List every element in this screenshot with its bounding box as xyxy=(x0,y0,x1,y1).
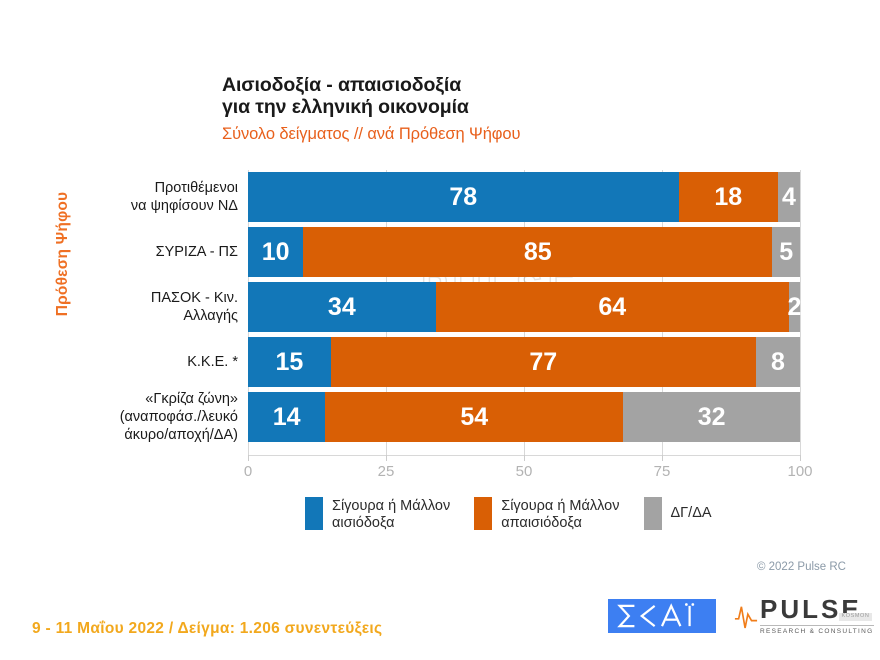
bar-value-label: 18 xyxy=(714,185,742,210)
bar-segment: 64 xyxy=(436,282,789,332)
x-axis-tick xyxy=(662,455,663,461)
bar-row: 34642 xyxy=(248,282,800,332)
bar-value-label: 15 xyxy=(275,350,303,375)
legend-item[interactable]: ΔΓ/ΔΑ xyxy=(644,497,712,530)
x-axis-tick-label: 100 xyxy=(787,463,812,480)
bar-segment: 54 xyxy=(325,392,623,442)
legend-label: ΔΓ/ΔΑ xyxy=(671,497,712,522)
legend-label: Σίγουρα ή Μάλλοναισιόδοξα xyxy=(332,497,450,532)
bar-rows: 78184108553464215778145432 xyxy=(248,170,800,455)
legend-label-line: ΔΓ/ΔΑ xyxy=(671,505,712,522)
x-axis-tick xyxy=(386,455,387,461)
chart-title-line-1: Αισιοδοξία - απαισιοδοξία xyxy=(222,74,742,96)
bar-segment: 18 xyxy=(679,172,778,222)
bar-segment: 14 xyxy=(248,392,325,442)
pulse-logo: PULSE RESEARCH & CONSULTING KOSMON xyxy=(734,596,874,636)
category-label-line: ΣΥΡΙΖΑ - ΠΣ xyxy=(60,243,238,261)
x-axis-tick xyxy=(800,455,801,461)
legend-item[interactable]: Σίγουρα ή Μάλλοναισιόδοξα xyxy=(305,497,450,532)
bar-value-label: 85 xyxy=(524,240,552,265)
bar-value-label: 77 xyxy=(529,350,557,375)
legend-swatch xyxy=(474,497,492,530)
x-axis: 0255075100 xyxy=(248,455,800,485)
bar-row: 15778 xyxy=(248,337,800,387)
category-label-line: Προτιθέμενοι xyxy=(60,179,238,197)
bar-value-label: 78 xyxy=(449,185,477,210)
legend-label-line: Σίγουρα ή Μάλλον xyxy=(501,498,619,515)
chart-subtitle: Σύνολο δείγματος // ανά Πρόθεση Ψήφου xyxy=(222,123,742,145)
bar-row: 10855 xyxy=(248,227,800,277)
skai-logo xyxy=(608,599,716,633)
bar-segment: 34 xyxy=(248,282,436,332)
copyright-text: © 2022 Pulse RC xyxy=(757,561,846,573)
chart-title-line-2: για την ελληνική οικονομία xyxy=(222,96,742,118)
category-label: ΠΑΣΟΚ - Κιν.Αλλαγής xyxy=(60,289,238,325)
category-label-line: Αλλαγής xyxy=(60,307,238,325)
category-label: Κ.Κ.Ε. * xyxy=(60,353,238,371)
legend-item[interactable]: Σίγουρα ή Μάλλοναπαισιόδοξα xyxy=(474,497,619,532)
bar-segment: 32 xyxy=(623,392,800,442)
bar-segment: 85 xyxy=(303,227,772,277)
bar-value-label: 54 xyxy=(460,405,488,430)
bar-value-label: 5 xyxy=(779,240,793,265)
x-axis-tick xyxy=(524,455,525,461)
bar-value-label: 10 xyxy=(262,240,290,265)
bar-row: 78184 xyxy=(248,172,800,222)
legend: Σίγουρα ή ΜάλλοναισιόδοξαΣίγουρα ή Μάλλο… xyxy=(305,497,712,532)
x-axis-tick-label: 75 xyxy=(654,463,671,480)
bar-segment: 10 xyxy=(248,227,303,277)
bar-segment: 5 xyxy=(772,227,800,277)
category-label-line: ΠΑΣΟΚ - Κιν. xyxy=(60,289,238,307)
bar-segment: 77 xyxy=(331,337,756,387)
bar-value-label: 4 xyxy=(782,185,796,210)
category-label: Προτιθέμενοινα ψηφίσουν ΝΔ xyxy=(60,179,238,215)
title-block: Αισιοδοξία - απαισιοδοξία για την ελληνι… xyxy=(222,74,742,145)
legend-label: Σίγουρα ή Μάλλοναπαισιόδοξα xyxy=(501,497,619,532)
pulse-waveform-icon xyxy=(734,600,758,632)
category-label-line: «Γκρίζα ζώνη» xyxy=(60,390,238,408)
fieldwork-note: 9 - 11 Μαΐου 2022 / Δείγμα: 1.206 συνεντ… xyxy=(32,620,382,638)
category-label: «Γκρίζα ζώνη»(αναποφάσ./λευκόάκυρο/αποχή… xyxy=(60,390,238,444)
category-label-line: Κ.Κ.Ε. * xyxy=(60,353,238,371)
logo-group: PULSE RESEARCH & CONSULTING KOSMON xyxy=(608,596,874,636)
x-axis-tick-label: 0 xyxy=(244,463,252,480)
x-axis-tick xyxy=(248,455,249,461)
category-label-line: άκυρο/αποχή/ΔΑ) xyxy=(60,426,238,444)
bar-value-label: 32 xyxy=(698,405,726,430)
bar-segment: 78 xyxy=(248,172,679,222)
legend-label-line: αισιόδοξα xyxy=(332,515,450,532)
bar-segment: 4 xyxy=(778,172,800,222)
category-label-line: να ψηφίσουν ΝΔ xyxy=(60,197,238,215)
bar-value-label: 14 xyxy=(273,405,301,430)
bar-value-label: 2 xyxy=(788,295,802,320)
legend-swatch xyxy=(644,497,662,530)
pulse-tagline: RESEARCH & CONSULTING xyxy=(760,625,874,636)
bar-value-label: 8 xyxy=(771,350,785,375)
legend-swatch xyxy=(305,497,323,530)
category-label-list: Προτιθέμενοινα ψηφίσουν ΝΔΣΥΡΙΖΑ - ΠΣΠΑΣ… xyxy=(60,170,238,455)
x-axis-tick-label: 25 xyxy=(378,463,395,480)
x-axis-tick-label: 50 xyxy=(516,463,533,480)
category-label-line: (αναποφάσ./λευκό xyxy=(60,408,238,426)
category-label: ΣΥΡΙΖΑ - ΠΣ xyxy=(60,243,238,261)
pulse-kosmon-badge: KOSMON xyxy=(839,613,871,621)
bar-value-label: 34 xyxy=(328,295,356,320)
bar-row: 145432 xyxy=(248,392,800,442)
plot-area: PULSE RESEARCH & CONSULTING 781841085534… xyxy=(248,170,800,455)
bar-segment: 8 xyxy=(756,337,800,387)
bar-segment: 15 xyxy=(248,337,331,387)
legend-label-line: απαισιόδοξα xyxy=(501,515,619,532)
bar-value-label: 64 xyxy=(598,295,626,320)
legend-label-line: Σίγουρα ή Μάλλον xyxy=(332,498,450,515)
chart-page: Αισιοδοξία - απαισιοδοξία για την ελληνι… xyxy=(0,0,880,660)
bar-segment: 2 xyxy=(789,282,800,332)
